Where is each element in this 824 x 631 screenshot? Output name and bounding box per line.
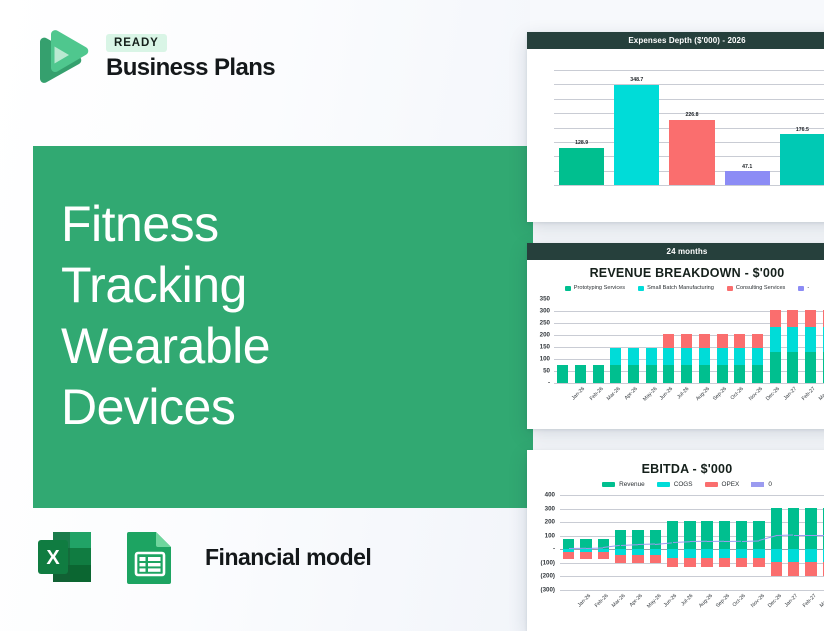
- bar-segment: [734, 334, 745, 348]
- gridline: [554, 70, 824, 71]
- gridline: [554, 99, 824, 100]
- bar-value-label: 348.7: [630, 77, 643, 83]
- bar-value-label: 226.8: [686, 112, 699, 118]
- ready-badge: READY: [106, 34, 167, 52]
- bar-segment: [701, 521, 712, 549]
- bar-segment: [699, 348, 710, 365]
- stacked-bar: [787, 310, 798, 383]
- x-axis-tick: Mar-27: [819, 593, 824, 609]
- bar-segment: [736, 549, 747, 557]
- bar-value-label: 176.5: [796, 127, 809, 133]
- bar-segment: [788, 549, 799, 561]
- chart-title-revenue: REVENUE BREAKDOWN - $'000: [527, 260, 824, 280]
- x-axis-tick: Jul-26: [680, 593, 694, 607]
- bar-segment: [667, 521, 678, 549]
- gridline: [560, 509, 824, 510]
- legend-item: Consulting Services: [727, 285, 785, 291]
- bar-segment: [805, 352, 816, 383]
- legend-swatch: [565, 286, 571, 291]
- y-axis-tick: 50: [533, 368, 550, 375]
- title-line-4: Devices: [61, 377, 501, 438]
- bar-segment: [770, 310, 781, 328]
- bar-segment: [580, 552, 591, 559]
- legend-label: 0: [768, 481, 772, 488]
- chart-legend-ebitda: RevenueCOGSOPEX0: [527, 481, 824, 488]
- x-axis-tick: Nov-26: [748, 386, 764, 402]
- bar-segment: [628, 365, 639, 383]
- bar-segment: [681, 334, 692, 348]
- legend-label: -: [807, 285, 809, 291]
- bar-segment: [632, 555, 643, 563]
- google-sheets-icon[interactable]: [117, 524, 183, 590]
- bar-segment: [752, 334, 763, 348]
- title-line-1: Fitness: [61, 194, 501, 255]
- bar-segment: [684, 558, 695, 567]
- x-axis-tick: Mar-27: [818, 386, 824, 402]
- play-triangle-logo-icon: [30, 26, 92, 88]
- x-axis-tick: Apr-26: [628, 593, 643, 608]
- bar-segment: [593, 365, 604, 383]
- bar-segment: [787, 352, 798, 383]
- x-axis-tick: May-26: [642, 386, 658, 402]
- footer-row: X Financial model: [33, 524, 371, 590]
- y-axis-tick: 100: [533, 356, 550, 363]
- y-axis-tick: 150: [533, 344, 550, 351]
- bar-segment: [632, 530, 643, 550]
- revenue-plot: 35030025020015010050-Jan-26Feb-26Mar-26A…: [533, 295, 824, 407]
- legend-label: Consulting Services: [736, 285, 785, 291]
- bar-segment: [736, 558, 747, 567]
- bar: [780, 134, 824, 185]
- zero-line-segment: [742, 540, 759, 542]
- brand-wordmark: READY Business Plans: [106, 34, 275, 80]
- x-axis-tick: Dec-26: [767, 593, 783, 609]
- brand-name: Business Plans: [106, 55, 275, 80]
- chart-card-ebitda[interactable]: EBITDA - $'000 RevenueCOGSOPEX0 40030020…: [527, 450, 824, 631]
- bar-segment: [646, 365, 657, 383]
- y-axis-tick: (200): [533, 573, 555, 580]
- gridline: [560, 495, 824, 496]
- chart-band-expenses: Expenses Depth ($'000) - 2026: [527, 32, 824, 49]
- bar-segment: [663, 348, 674, 365]
- y-axis-tick: 200: [533, 332, 550, 339]
- x-axis-tick: Dec-26: [765, 386, 781, 402]
- stacked-bar: [593, 365, 604, 383]
- bar-segment: [771, 508, 782, 549]
- x-axis-tick: Mar-26: [606, 386, 622, 402]
- bar-segment: [650, 530, 661, 550]
- gridline: [560, 576, 824, 577]
- stacked-bar: [734, 334, 745, 383]
- bar-segment: [563, 552, 574, 559]
- bar-segment: [719, 558, 730, 567]
- bar-value-label: 128.9: [575, 140, 588, 146]
- bar-segment: [663, 365, 674, 383]
- stacked-bar: [557, 365, 568, 383]
- y-axis-tick: -: [533, 546, 555, 553]
- chart-card-revenue[interactable]: 24 months REVENUE BREAKDOWN - $'000 Prot…: [527, 243, 824, 429]
- bar-segment: [805, 508, 816, 549]
- bar-segment: [650, 555, 661, 563]
- stacked-bar: [770, 310, 781, 383]
- bar-segment: [663, 334, 674, 348]
- bar-segment: [628, 348, 639, 365]
- stacked-bar: [628, 348, 639, 383]
- x-axis-tick: Feb-27: [801, 386, 817, 402]
- bar-segment: [787, 327, 798, 352]
- x-axis-tick: Feb-26: [594, 593, 610, 609]
- x-axis-tick: Jun-26: [659, 386, 674, 401]
- ebitda-plot: 400300200100-(100)(200)(300)Jan-26Feb-26…: [533, 492, 824, 614]
- x-axis-tick: Oct-26: [732, 593, 747, 608]
- bar-value-label: 47.1: [742, 164, 752, 170]
- legend-item: COGS: [657, 481, 693, 488]
- stacked-bar: [699, 334, 710, 383]
- chart-title-ebitda: EBITDA - $'000: [527, 450, 824, 476]
- x-axis-tick: Feb-26: [588, 386, 604, 402]
- bar-segment: [770, 352, 781, 383]
- bar-segment: [753, 549, 764, 557]
- legend-label: Revenue: [619, 481, 645, 488]
- bar-segment: [805, 327, 816, 352]
- slide-canvas: READY Business Plans Fitness Tracking We…: [0, 0, 824, 631]
- gridline: [554, 323, 824, 324]
- x-axis-tick: Aug-26: [698, 593, 714, 609]
- gridline: [554, 383, 824, 384]
- y-axis-tick: 250: [533, 320, 550, 327]
- footer-label: Financial model: [205, 544, 371, 571]
- bar-segment: [701, 558, 712, 567]
- x-axis-tick: Mar-26: [611, 593, 627, 609]
- legend-swatch: [751, 482, 764, 487]
- zero-line-segment: [794, 535, 811, 536]
- legend-swatch: [638, 286, 644, 291]
- stacked-bar: [646, 348, 657, 383]
- bar-segment: [770, 327, 781, 352]
- bar-segment: [681, 365, 692, 383]
- bar-segment: [752, 365, 763, 383]
- bar-segment: [681, 348, 692, 365]
- x-axis-tick: Jan-27: [784, 593, 799, 608]
- bar-segment: [598, 552, 609, 559]
- brand-logo[interactable]: READY Business Plans: [30, 26, 275, 88]
- legend-item: Revenue: [602, 481, 645, 488]
- x-axis-tick: Jan-27: [783, 386, 798, 401]
- bar-segment: [557, 365, 568, 383]
- bar-segment: [805, 549, 816, 561]
- legend-item: Small Batch Manufacturing: [638, 285, 714, 291]
- y-axis-tick: (100): [533, 559, 555, 566]
- zero-line-segment: [724, 541, 741, 543]
- title-line-2: Tracking: [61, 255, 501, 316]
- chart-legend-revenue: Prototyping ServicesSmall Batch Manufact…: [527, 285, 824, 291]
- bar-segment: [667, 549, 678, 557]
- bar-segment: [788, 562, 799, 577]
- bar-segment: [717, 348, 728, 365]
- page-title: Fitness Tracking Wearable Devices: [61, 194, 501, 438]
- title-line-3: Wearable: [61, 316, 501, 377]
- bar: [614, 85, 659, 185]
- bar-segment: [753, 521, 764, 549]
- x-axis-tick: Aug-26: [695, 386, 711, 402]
- bar-segment: [699, 365, 710, 383]
- chart-band-revenue: 24 months: [527, 243, 824, 260]
- bar-segment: [646, 348, 657, 365]
- legend-swatch: [602, 482, 615, 487]
- x-axis-tick: Jun-26: [663, 593, 678, 608]
- x-axis-tick: Sep-26: [715, 593, 731, 609]
- bar-segment: [610, 365, 621, 383]
- x-axis-tick: Jan-26: [576, 593, 591, 608]
- svg-text:X: X: [46, 547, 60, 569]
- x-axis-tick: Sep-26: [712, 386, 728, 402]
- legend-swatch: [657, 482, 670, 487]
- bar-segment: [805, 562, 816, 577]
- y-axis-tick: 400: [533, 492, 555, 499]
- bar-segment: [667, 558, 678, 567]
- legend-label: Prototyping Services: [574, 285, 625, 291]
- bar-segment: [575, 365, 586, 383]
- stacked-bar: [805, 310, 816, 383]
- gridline: [560, 590, 824, 591]
- legend-item: OPEX: [705, 481, 740, 488]
- gridline: [554, 84, 824, 85]
- x-axis-tick: Jul-26: [676, 386, 690, 400]
- x-axis-tick: Feb-27: [802, 593, 818, 609]
- x-axis-tick: Nov-26: [750, 593, 766, 609]
- legend-label: COGS: [674, 481, 693, 488]
- legend-item: -: [798, 285, 809, 291]
- y-axis-tick: 200: [533, 519, 555, 526]
- bar-segment: [719, 521, 730, 549]
- stacked-bar: [717, 334, 728, 383]
- hero-panel: Fitness Tracking Wearable Devices: [33, 146, 533, 508]
- gridline: [554, 185, 824, 186]
- bar-segment: [717, 365, 728, 383]
- stacked-bar: [610, 348, 621, 383]
- bar-segment: [805, 310, 816, 328]
- legend-label: Small Batch Manufacturing: [647, 285, 714, 291]
- bar-segment: [615, 555, 626, 563]
- y-axis-tick: 100: [533, 532, 555, 539]
- bar-segment: [771, 549, 782, 561]
- y-axis-tick: (300): [533, 587, 555, 594]
- legend-swatch: [705, 482, 718, 487]
- x-axis-tick: Apr-26: [623, 386, 638, 401]
- bar-segment: [610, 348, 621, 365]
- y-axis-tick: 300: [533, 308, 550, 315]
- bar-segment: [719, 549, 730, 557]
- bar-segment: [734, 365, 745, 383]
- bar-segment: [788, 508, 799, 549]
- legend-swatch: [727, 286, 733, 291]
- bar-segment: [717, 334, 728, 348]
- x-axis-tick: May-26: [646, 593, 662, 609]
- bar-segment: [771, 562, 782, 577]
- stacked-bar: [681, 334, 692, 383]
- microsoft-excel-icon[interactable]: X: [33, 524, 99, 590]
- bar-segment: [787, 310, 798, 328]
- bar: [725, 171, 770, 185]
- chart-card-expenses[interactable]: Expenses Depth ($'000) - 2026 128.9348.7…: [527, 32, 824, 222]
- legend-label: OPEX: [722, 481, 740, 488]
- legend-swatch: [798, 286, 804, 291]
- bar-segment: [753, 558, 764, 567]
- y-axis-tick: -: [533, 380, 550, 387]
- bar-segment: [699, 334, 710, 348]
- x-axis-tick: Oct-26: [730, 386, 745, 401]
- bar: [669, 120, 714, 185]
- zero-line-segment: [811, 535, 824, 536]
- stacked-bar: [663, 334, 674, 383]
- stacked-bar: [575, 365, 586, 383]
- gridline: [554, 311, 824, 312]
- bar: [559, 148, 604, 185]
- y-axis-tick: 350: [533, 296, 550, 303]
- legend-item: Prototyping Services: [565, 285, 625, 291]
- x-axis-tick: Jan-26: [570, 386, 585, 401]
- bar-segment: [734, 348, 745, 365]
- bar-segment: [701, 549, 712, 557]
- legend-item: 0: [751, 481, 772, 488]
- y-axis-tick: 300: [533, 505, 555, 512]
- bar-segment: [684, 549, 695, 557]
- stacked-bar: [752, 334, 763, 383]
- bar-segment: [736, 521, 747, 549]
- bar-segment: [684, 521, 695, 549]
- bar-segment: [752, 348, 763, 365]
- expenses-plot: 128.9348.7226.847.1176.5: [536, 56, 824, 191]
